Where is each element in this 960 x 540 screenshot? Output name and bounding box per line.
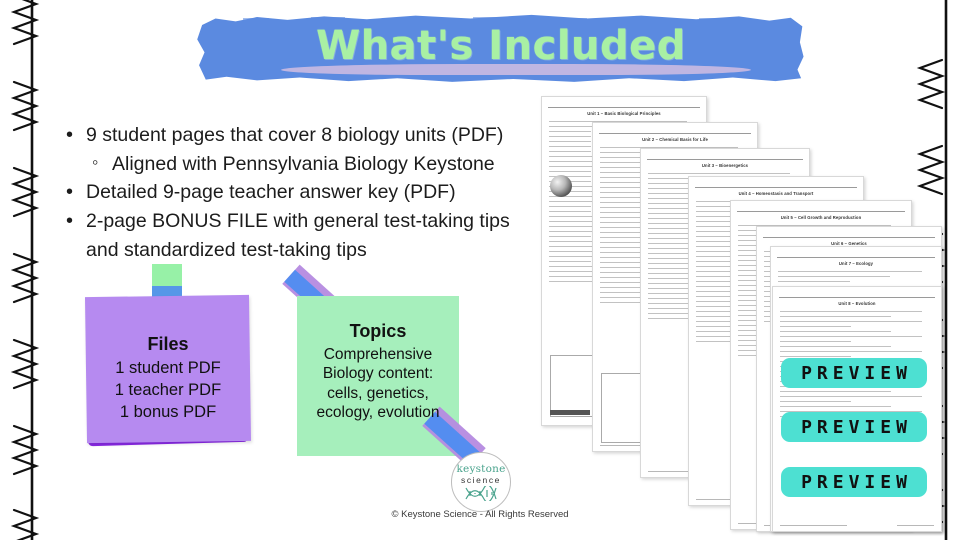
- worksheet-unit-title: Unit 1 – Basic Biological Principles: [548, 111, 700, 116]
- note-files-line: 1 bonus PDF: [120, 403, 216, 421]
- preview-badge: PREVIEW: [781, 467, 927, 497]
- list-item: 9 student pages that cover 8 biology uni…: [60, 122, 560, 150]
- brand-logo: keystone science: [451, 452, 511, 512]
- copyright-footer: © Keystone Science - All Rights Reserved: [0, 509, 960, 520]
- worksheet-name-line: [647, 155, 803, 160]
- worksheet-name-line: [777, 253, 935, 258]
- sticky-note-topics-content: Topics Comprehensive Biology content: ce…: [297, 320, 459, 423]
- note-topics-line: Comprehensive: [324, 346, 433, 363]
- worksheet-unit-title: Unit 7 – Ecology: [777, 261, 935, 266]
- title-banner: What's Included: [196, 12, 806, 84]
- note-files-line: 1 student PDF: [115, 359, 220, 377]
- note-files-line: 1 teacher PDF: [115, 381, 221, 399]
- logo-line-science: science: [461, 476, 501, 485]
- worksheet-unit-title: Unit 4 – Homeostasis and Transport: [695, 191, 857, 196]
- preview-badge: PREVIEW: [781, 358, 927, 388]
- worksheet-unit-title: Unit 5 – Cell Growth and Reproduction: [737, 215, 905, 220]
- worksheet-barcode: [550, 410, 590, 415]
- worksheet-unit-title: Unit 3 – Bioenergetics: [647, 163, 803, 168]
- logo-line-keystone: keystone: [456, 464, 505, 475]
- note-files-heading: Files: [86, 332, 250, 356]
- note-topics-line: ecology, evolution: [317, 404, 440, 421]
- preview-badge: PREVIEW: [781, 412, 927, 442]
- worksheet-unit-title: Unit 8 – Evolution: [779, 301, 935, 306]
- worksheet-name-line: [779, 293, 935, 298]
- note-topics-line: Biology content:: [323, 365, 433, 382]
- dna-helix-icon: [464, 486, 498, 501]
- worksheet-name-line: [737, 207, 905, 212]
- note-topics-heading: Topics: [297, 320, 459, 343]
- list-item: Aligned with Pennsylvania Biology Keysto…: [60, 151, 560, 179]
- list-item-continuation: and standardized test-taking tips: [60, 237, 560, 265]
- page-title: What's Included: [196, 12, 806, 84]
- worksheet-name-line: [548, 103, 700, 108]
- list-item: 2-page BONUS FILE with general test-taki…: [60, 208, 560, 236]
- worksheet-name-line: [695, 183, 857, 188]
- worksheet-unit-title: Unit 2 – Chemical Basis for Life: [599, 137, 751, 142]
- slide-canvas: Unit 1 – Basic Biological Principles Uni…: [0, 0, 960, 540]
- worksheet-name-line: [599, 129, 751, 134]
- included-list: 9 student pages that cover 8 biology uni…: [60, 122, 560, 264]
- list-item: Detailed 9-page teacher answer key (PDF): [60, 179, 560, 207]
- left-decorative-border: [2, 0, 62, 540]
- worksheet-name-line: [763, 233, 935, 238]
- note-topics-line: cells, genetics,: [327, 385, 429, 402]
- sticky-note-files-content: Files 1 student PDF 1 teacher PDF 1 bonu…: [86, 332, 250, 423]
